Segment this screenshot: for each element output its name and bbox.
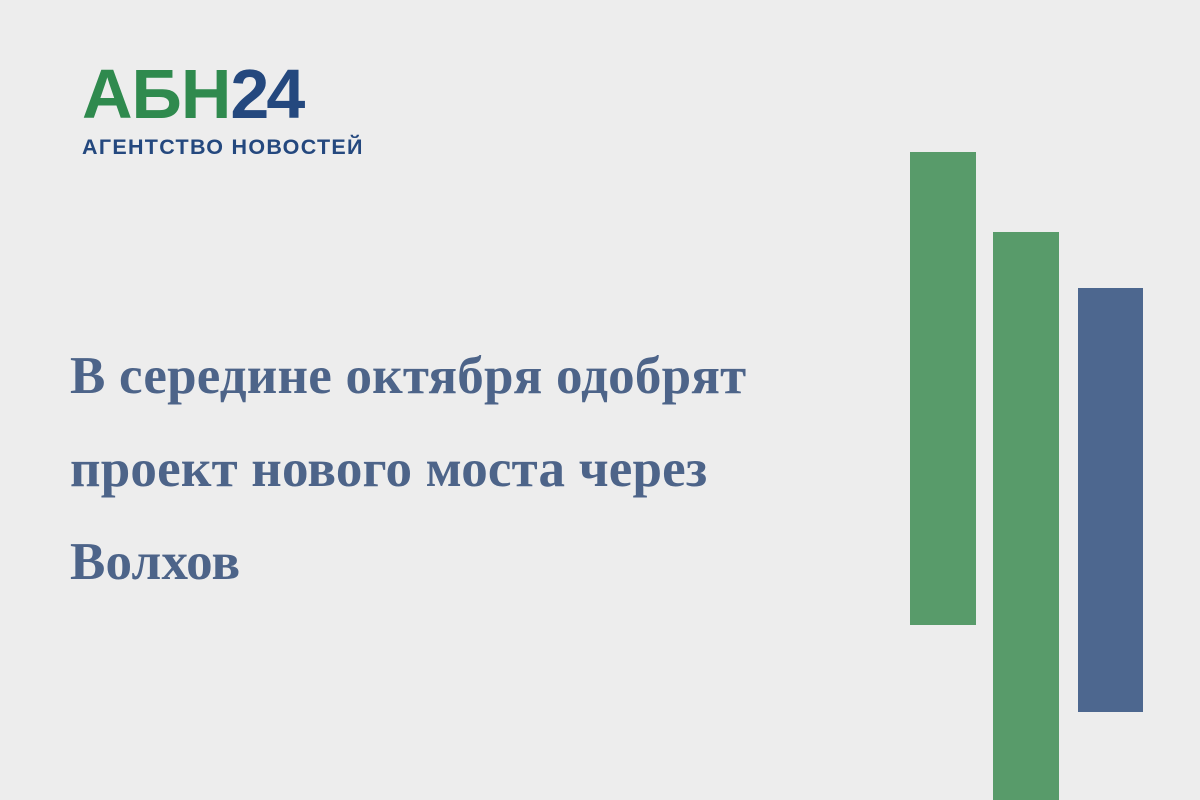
headline: В середине октября одобрят проект нового… (70, 330, 870, 609)
headline-line-3: Волхов (70, 516, 870, 609)
logo-wordmark-24: 24 (230, 55, 302, 133)
news-share-card: АБН24 АГЕНТСТВО НОВОСТЕЙ В середине октя… (0, 0, 1200, 800)
abn24-logo[interactable]: АБН24 АГЕНТСТВО НОВОСТЕЙ (82, 58, 372, 160)
decorative-bar-1 (910, 152, 976, 625)
decorative-bar-3 (1078, 288, 1143, 712)
headline-line-2: проект нового моста через (70, 423, 870, 516)
headline-line-1: В середине октября одобрят (70, 330, 870, 423)
logo-wordmark-abn: АБН (82, 55, 230, 133)
logo-wordmark: АБН24 (82, 58, 372, 130)
logo-tagline: АГЕНТСТВО НОВОСТЕЙ (82, 135, 372, 160)
decorative-bar-2 (993, 232, 1059, 800)
